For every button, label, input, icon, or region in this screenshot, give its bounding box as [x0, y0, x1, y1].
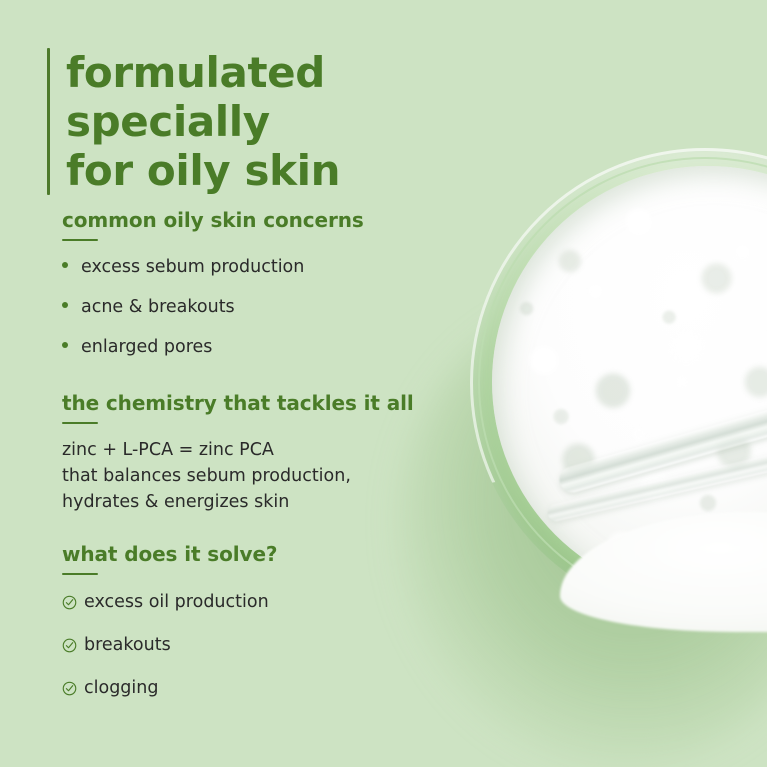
- petri-dish-glass: [470, 148, 767, 618]
- section-chemistry: the chemistry that tackles it all zinc +…: [62, 391, 414, 515]
- chemistry-line: that balances sebum production,: [62, 463, 414, 489]
- list-item: excess oil production: [62, 591, 277, 613]
- chemistry-paragraph: zinc + L-PCA = zinc PCA that balances se…: [62, 437, 414, 515]
- section-common-concerns: common oily skin concerns excess sebum p…: [62, 208, 364, 358]
- chemistry-line: zinc + L-PCA = zinc PCA: [62, 437, 414, 463]
- section-what-it-solves: what does it solve? excess oil productio…: [62, 542, 277, 699]
- infographic-card: formulated speciallyfor oily skin common…: [0, 0, 767, 767]
- heading-underline: [62, 573, 98, 575]
- content-column: formulated speciallyfor oily skin common…: [0, 0, 460, 767]
- page-title: formulated speciallyfor oily skin: [66, 48, 460, 195]
- list-item: enlarged pores: [62, 336, 364, 358]
- concerns-list: excess sebum production acne & breakouts…: [62, 256, 364, 358]
- check-circle-icon: [62, 681, 77, 696]
- list-item: excess sebum production: [62, 256, 364, 278]
- bullet-dot-icon: [62, 342, 68, 348]
- petri-dish-rim-highlight: [470, 148, 767, 618]
- chemistry-line: hydrates & energizes skin: [62, 489, 414, 515]
- section-heading: common oily skin concerns: [62, 208, 364, 232]
- heading-underline: [62, 422, 98, 424]
- bullet-dot-icon: [62, 302, 68, 308]
- list-item-label: enlarged pores: [81, 336, 212, 358]
- powder-mound-foreground: [560, 512, 767, 632]
- heading-underline: [62, 239, 98, 241]
- list-item-label: excess oil production: [84, 591, 269, 613]
- solutions-list: excess oil production breakouts clogging: [62, 591, 277, 699]
- glass-rod-icon: [556, 388, 767, 496]
- list-item-label: clogging: [84, 677, 158, 699]
- headline-accent-rule: [47, 48, 50, 195]
- list-item-label: acne & breakouts: [81, 296, 235, 318]
- section-heading: the chemistry that tackles it all: [62, 391, 414, 415]
- check-circle-icon: [62, 638, 77, 653]
- glass-rod-secondary-icon: [546, 450, 767, 523]
- list-item: breakouts: [62, 634, 277, 656]
- powder-texture-coarse: [492, 166, 767, 598]
- list-item: acne & breakouts: [62, 296, 364, 318]
- list-item-label: breakouts: [84, 634, 171, 656]
- list-item-label: excess sebum production: [81, 256, 304, 278]
- petri-dish-rim-inner: [478, 157, 767, 609]
- check-circle-icon: [62, 595, 77, 610]
- list-item: clogging: [62, 677, 277, 699]
- section-heading: what does it solve?: [62, 542, 277, 566]
- powder-texture-fine: [492, 166, 767, 598]
- white-powder: [492, 166, 767, 598]
- bullet-dot-icon: [62, 262, 68, 268]
- headline-block: formulated speciallyfor oily skin: [47, 48, 460, 195]
